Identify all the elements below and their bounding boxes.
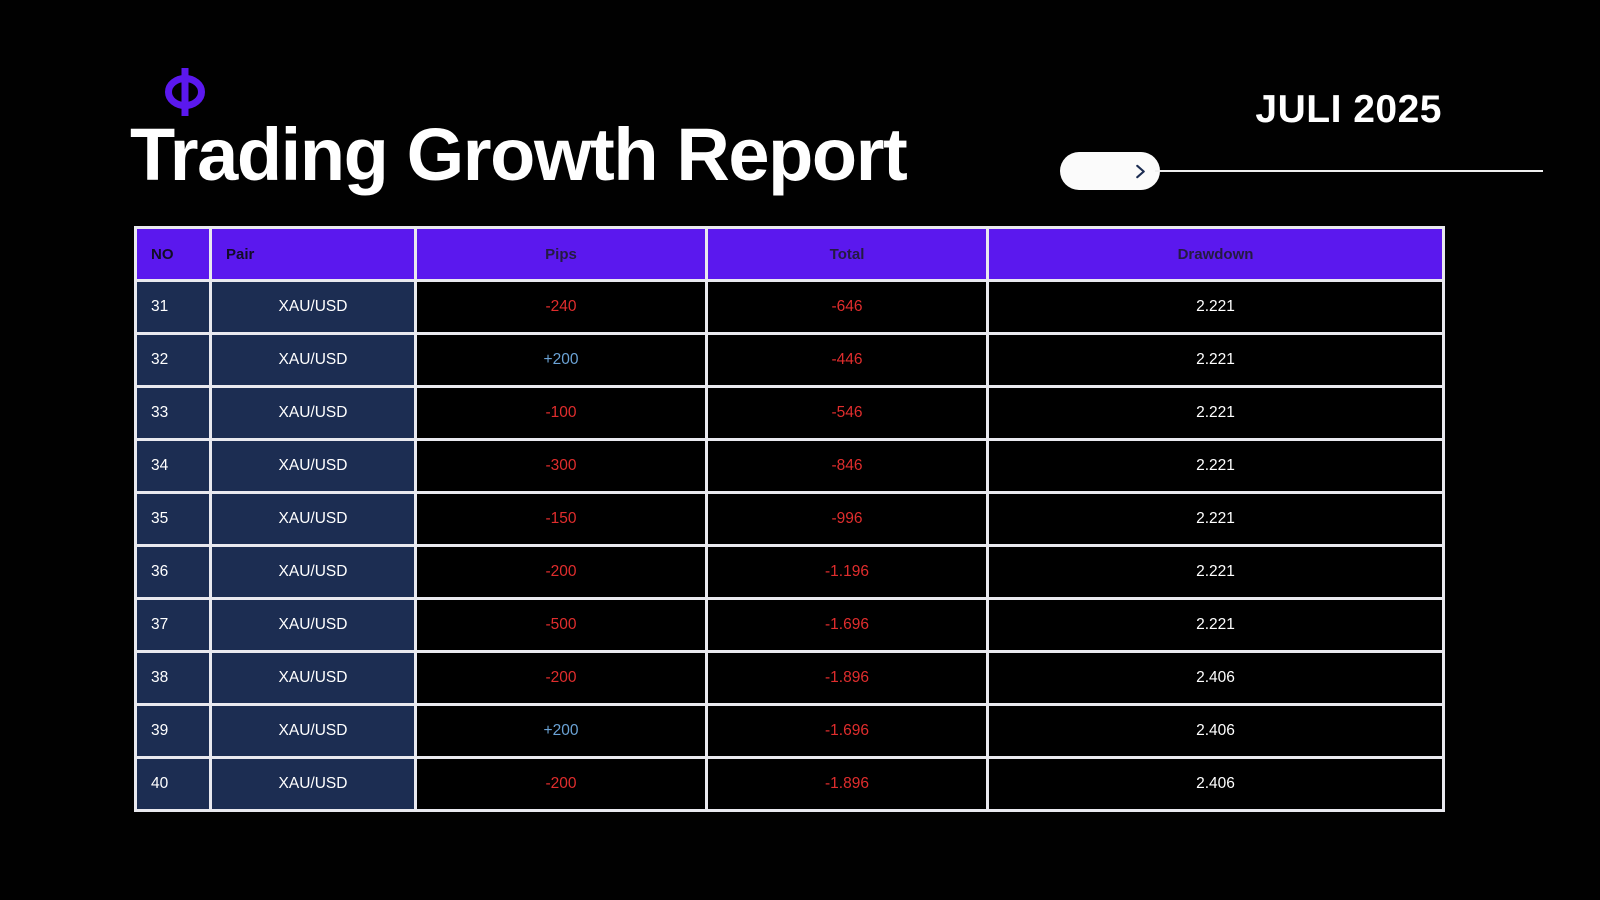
- cell-no: 31: [137, 282, 209, 332]
- trading-table: NO Pair Pips Total Drawdown 31XAU/USD-24…: [134, 226, 1445, 812]
- table-row[interactable]: 33XAU/USD-100-5462.221: [137, 388, 1442, 438]
- cell-no: 32: [137, 335, 209, 385]
- phi-logo-icon: [163, 67, 207, 117]
- total-value: -446: [831, 351, 862, 368]
- total-value: -1.896: [825, 669, 869, 686]
- cell-no: 40: [137, 759, 209, 809]
- cell-pips: -300: [417, 441, 705, 491]
- cell-total: -996: [708, 494, 986, 544]
- total-value: -1.696: [825, 616, 869, 633]
- table-row[interactable]: 34XAU/USD-300-8462.221: [137, 441, 1442, 491]
- cell-drawdown: 2.221: [989, 600, 1442, 650]
- cell-pair: XAU/USD: [212, 335, 414, 385]
- cell-total: -646: [708, 282, 986, 332]
- cell-total: -446: [708, 335, 986, 385]
- chevron-right-icon: [1134, 163, 1147, 180]
- cell-drawdown: 2.221: [989, 441, 1442, 491]
- table-header-row: NO Pair Pips Total Drawdown: [137, 229, 1442, 279]
- cell-drawdown: 2.221: [989, 282, 1442, 332]
- cell-pips: -200: [417, 547, 705, 597]
- cell-drawdown: 2.221: [989, 335, 1442, 385]
- cell-total: -1.196: [708, 547, 986, 597]
- cell-pips: -200: [417, 653, 705, 703]
- cell-total: -1.696: [708, 706, 986, 756]
- cell-pips: -100: [417, 388, 705, 438]
- table-row[interactable]: 37XAU/USD-500-1.6962.221: [137, 600, 1442, 650]
- cell-pips: +200: [417, 706, 705, 756]
- table-row[interactable]: 40XAU/USD-200-1.8962.406: [137, 759, 1442, 809]
- pips-value: -100: [545, 404, 576, 421]
- column-header-pair[interactable]: Pair: [212, 229, 414, 279]
- cell-pair: XAU/USD: [212, 547, 414, 597]
- table-row[interactable]: 31XAU/USD-240-6462.221: [137, 282, 1442, 332]
- cell-pair: XAU/USD: [212, 653, 414, 703]
- total-value: -546: [831, 404, 862, 421]
- cell-drawdown: 2.221: [989, 547, 1442, 597]
- cell-pair: XAU/USD: [212, 600, 414, 650]
- column-header-drawdown[interactable]: Drawdown: [989, 229, 1442, 279]
- cell-no: 36: [137, 547, 209, 597]
- cell-pair: XAU/USD: [212, 759, 414, 809]
- cell-no: 33: [137, 388, 209, 438]
- cell-pips: -500: [417, 600, 705, 650]
- cell-pips: -150: [417, 494, 705, 544]
- table-row[interactable]: 32XAU/USD+200-4462.221: [137, 335, 1442, 385]
- cell-pair: XAU/USD: [212, 388, 414, 438]
- cell-no: 35: [137, 494, 209, 544]
- cell-pair: XAU/USD: [212, 441, 414, 491]
- total-value: -996: [831, 510, 862, 527]
- pips-value: -150: [545, 510, 576, 527]
- cell-drawdown: 2.406: [989, 706, 1442, 756]
- trading-table-wrapper: NO Pair Pips Total Drawdown 31XAU/USD-24…: [134, 226, 1430, 812]
- table-row[interactable]: 35XAU/USD-150-9962.221: [137, 494, 1442, 544]
- total-value: -1.896: [825, 775, 869, 792]
- cell-total: -546: [708, 388, 986, 438]
- cell-drawdown: 2.221: [989, 494, 1442, 544]
- cell-total: -1.896: [708, 653, 986, 703]
- cell-no: 37: [137, 600, 209, 650]
- pips-value: -300: [545, 457, 576, 474]
- cell-no: 38: [137, 653, 209, 703]
- pips-value: -500: [545, 616, 576, 633]
- pips-value: -200: [545, 669, 576, 686]
- cell-drawdown: 2.406: [989, 653, 1442, 703]
- table-row[interactable]: 36XAU/USD-200-1.1962.221: [137, 547, 1442, 597]
- cell-total: -1.896: [708, 759, 986, 809]
- next-button[interactable]: [1060, 152, 1160, 190]
- table-body: 31XAU/USD-240-6462.22132XAU/USD+200-4462…: [137, 282, 1442, 809]
- total-value: -646: [831, 298, 862, 315]
- cell-pips: +200: [417, 335, 705, 385]
- total-value: -1.196: [825, 563, 869, 580]
- cell-pips: -200: [417, 759, 705, 809]
- cell-total: -1.696: [708, 600, 986, 650]
- pips-value: -200: [545, 563, 576, 580]
- total-value: -846: [831, 457, 862, 474]
- pips-value: +200: [544, 351, 579, 368]
- cell-pair: XAU/USD: [212, 494, 414, 544]
- column-header-no[interactable]: NO: [137, 229, 209, 279]
- cell-pair: XAU/USD: [212, 282, 414, 332]
- cell-no: 39: [137, 706, 209, 756]
- column-header-pips[interactable]: Pips: [417, 229, 705, 279]
- total-value: -1.696: [825, 722, 869, 739]
- page-title: Trading Growth Report: [130, 118, 906, 192]
- table-row[interactable]: 38XAU/USD-200-1.8962.406: [137, 653, 1442, 703]
- pips-value: -200: [545, 775, 576, 792]
- cell-no: 34: [137, 441, 209, 491]
- pips-value: +200: [544, 722, 579, 739]
- column-header-total[interactable]: Total: [708, 229, 986, 279]
- cell-total: -846: [708, 441, 986, 491]
- cell-pips: -240: [417, 282, 705, 332]
- pips-value: -240: [545, 298, 576, 315]
- cell-drawdown: 2.406: [989, 759, 1442, 809]
- header-divider: [1155, 170, 1543, 172]
- report-page: Trading Growth Report JULI 2025 NO Pa: [0, 0, 1600, 900]
- table-row[interactable]: 39XAU/USD+200-1.6962.406: [137, 706, 1442, 756]
- period-label: JULI 2025: [1255, 90, 1442, 129]
- table-header: NO Pair Pips Total Drawdown: [137, 229, 1442, 279]
- cell-pair: XAU/USD: [212, 706, 414, 756]
- cell-drawdown: 2.221: [989, 388, 1442, 438]
